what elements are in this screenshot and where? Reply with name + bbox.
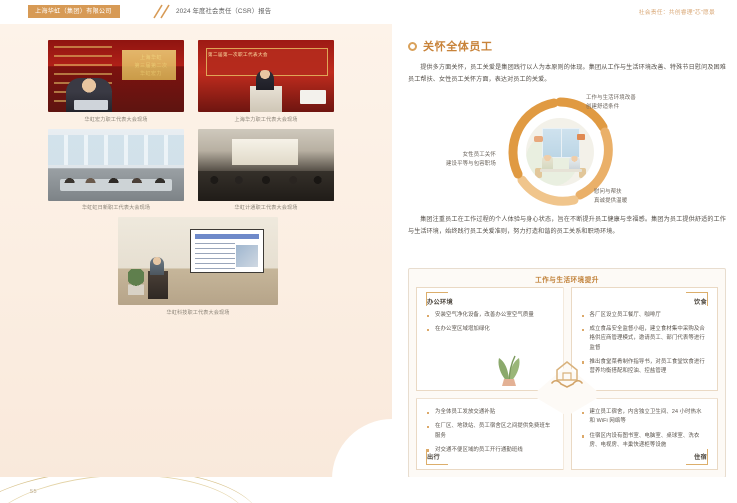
presenter-shape [150,257,164,275]
plant-icon [487,346,531,386]
list-item: 各厂区设立员工餐厅、咖啡厅 [582,311,708,320]
section-paragraph-2: 集团注重员工在工作过程的个人体验与身心状态，旨在不断提升员工健康与幸福感。集团为… [408,214,726,237]
rule-vertical [707,449,708,465]
card-heading: 出行 [427,452,440,461]
running-header: 上海华虹（集团）有限公司 2024 年度社会责任（CSR）报告 社会责任：共创睿… [0,0,737,24]
photo-figure [66,78,112,112]
slide-thumbnail [236,245,258,267]
wall-tag-icon [577,134,585,140]
card-grid: 办公环境 安装空气净化设备，改善办公室空气质量 在办公室区域增加绿化 饮食 各厂 [416,287,718,470]
care-circle-diagram: 工作与生活环境改善 创建舒适条件 女性员工关怀 建设平等与包容职场 慰问与帮扶 … [408,92,726,210]
photo-image-3 [48,129,184,201]
diagram-label-bottom: 慰问与帮扶 真诚提供温暖 [594,188,627,205]
photo-item: 上海华虹第三届第二次华虹宏力 华虹宏力职工代表大会现场 [48,40,184,123]
list-item: 住宿区内设有图书室、电脑室、桌球室、洗衣房、电视房、丰巢快递柜等设施 [582,432,708,450]
rule-vertical [707,292,708,306]
stage-banner [232,139,298,165]
rule-bottom [686,464,708,465]
panel-corner-cut [332,419,392,479]
card-dining: 饮食 各厂区设立员工餐厅、咖啡厅 成立食品安全监督小组，建立食材集中采购及合格供… [571,287,719,391]
list-item: 建立员工宿舍，内含独立卫生间、24 小时热水和 WiFi 网络等 [582,408,708,426]
diagram-label-top: 工作与生活环境改善 创建舒适条件 [586,94,636,111]
window-shape [542,128,580,158]
podium-shape [148,271,168,299]
list-item: 成立食品安全监督小组，建立食材集中采购及合格供应商管理模式，邀请员工、部门代表等… [582,325,708,353]
rule-bottom [426,464,448,465]
photo-caption: 华虹计通职工代表大会现场 [198,204,334,211]
rule-vertical [426,449,427,465]
rule-top [426,292,448,293]
photo-gallery: 上海华虹第三届第二次华虹宏力 华虹宏力职工代表大会现场 第二届第一次职工代表大会… [48,40,348,316]
card-housing: 建立员工宿舍，内含独立卫生间、24 小时热水和 WiFi 网络等 住宿区内设有图… [571,398,719,470]
card-bullet-list: 安装空气净化设备，改善办公室空气质量 在办公室区域增加绿化 [427,311,553,334]
card-bullet-list: 建立员工宿舍，内含独立卫生间、24 小时热水和 WiFi 网络等 住宿区内设有图… [582,408,708,450]
photo-banner-text: 第二届第一次职工代表大会 [208,52,268,58]
card-heading: 办公环境 [427,297,553,306]
rule-vertical [426,292,427,306]
card-bullet-list: 各厂区设立员工餐厅、咖啡厅 成立食品安全监督小组，建立食材集中采购及合格供应商管… [582,311,708,376]
photo-caption: 华虹虹日新职工代表大会现场 [48,204,184,211]
audience-shape [198,171,334,201]
photo-image-5 [118,217,278,305]
header-report-title: 2024 年度社会责任（CSR）报告 [176,6,271,15]
card-office: 办公环境 安装空气净化设备，改善办公室空气质量 在办公室区域增加绿化 [416,287,564,391]
photo-item: 华虹虹日新职工代表大会现场 [48,129,184,212]
speaker-shape [256,70,274,90]
photo-caption: 华虹宏力职工代表大会现场 [48,116,184,123]
photo-caption: 上海华力职工代表大会现场 [198,116,334,123]
card-heading: 饮食 [582,297,708,306]
report-page: 上海华虹（集团）有限公司 2024 年度社会责任（CSR）报告 社会责任：共创睿… [0,0,737,503]
section-paragraph-1: 提供多方面关怀，员工关爱是集团践行以人为本原则的体现。集团从工作与生活环境改善、… [408,62,726,85]
plant-shape [128,269,144,295]
photo-caption: 华虹科技职工代表大会现场 [118,309,278,316]
card-bullet-list: 为全体员工发放交通补贴 在厂区、地铁站、员工宿舍区之间提供免费班车服务 对交通不… [427,408,553,455]
diagram-label-line2: 建设平等与包容职场 [446,161,496,167]
card-travel: 为全体员工发放交通补贴 在厂区、地铁站、员工宿舍区之间提供免费班车服务 对交通不… [416,398,564,470]
photo-item: 华虹计通职工代表大会现场 [198,129,334,212]
photo-item: 第二届第一次职工代表大会 上海华力职工代表大会现场 [198,40,334,123]
projection-screen [190,229,264,273]
diagram-label-line1: 慰问与帮扶 [594,189,622,195]
rule-top [686,292,708,293]
photo-row-2: 华虹虹日新职工代表大会现场 华虹计通职工代表大会现场 [48,129,348,212]
header-tagline: 社会责任：共创睿理“芯”愿景 [639,7,715,16]
logo-board [300,90,326,104]
diagram-label-line2: 真诚提供温暖 [594,198,627,204]
diagram-label-line2: 创建舒适条件 [586,104,619,110]
laptop-shape [74,100,108,110]
block-title: 工作与生活环境提升 [409,274,725,284]
attendees-shape [58,169,174,183]
diagram-label-line1: 女性员工关怀 [463,152,496,158]
page-number: 55 [30,489,37,495]
list-item: 对交通不便区域的员工开行通勤班线 [427,446,553,455]
photo-image-2: 第二届第一次职工代表大会 [198,40,334,112]
list-item: 在厂区、地铁站、员工宿舍区之间提供免费班车服务 [427,422,553,440]
speech-bubble-icon [534,136,543,142]
workplace-illustration [526,118,594,186]
environment-improvement-block: 工作与生活环境提升 办公环境 安装空气净化设备，改善办公室空气质量 在办公室区域… [408,268,726,478]
header-company-tab: 上海华虹（集团）有限公司 [28,5,120,18]
list-item: 推出食堂菜肴制作指导书，对员工食堂饮食进行营养均衡搭配和控油、控盐管理 [582,358,708,376]
ring-icon [408,42,417,51]
list-item: 在办公室区域增加绿化 [427,325,553,334]
photo-image-1: 上海华虹第三届第二次华虹宏力 [48,40,184,112]
desk-shape [540,169,582,172]
photo-image-4 [198,129,334,201]
diagram-label-left: 女性员工关怀 建设平等与包容职场 [446,151,496,168]
section-title-row: 关怀全体员工 [408,38,493,54]
list-item: 为全体员工发放交通补贴 [427,408,553,417]
page-title: 关怀全体员工 [423,38,493,54]
diagram-label-line1: 工作与生活环境改善 [586,95,636,101]
footer-strip [0,477,737,503]
list-item: 安装空气净化设备，改善办公室空气质量 [427,311,553,320]
photo-row-1: 上海华虹第三届第二次华虹宏力 华虹宏力职工代表大会现场 第二届第一次职工代表大会… [48,40,348,123]
photo-item: 华虹科技职工代表大会现场 [118,217,278,316]
header-slash-icon [152,4,178,19]
photo-banner-text: 上海华虹第三届第二次华虹宏力 [126,54,176,78]
card-heading: 住宿 [694,452,707,461]
